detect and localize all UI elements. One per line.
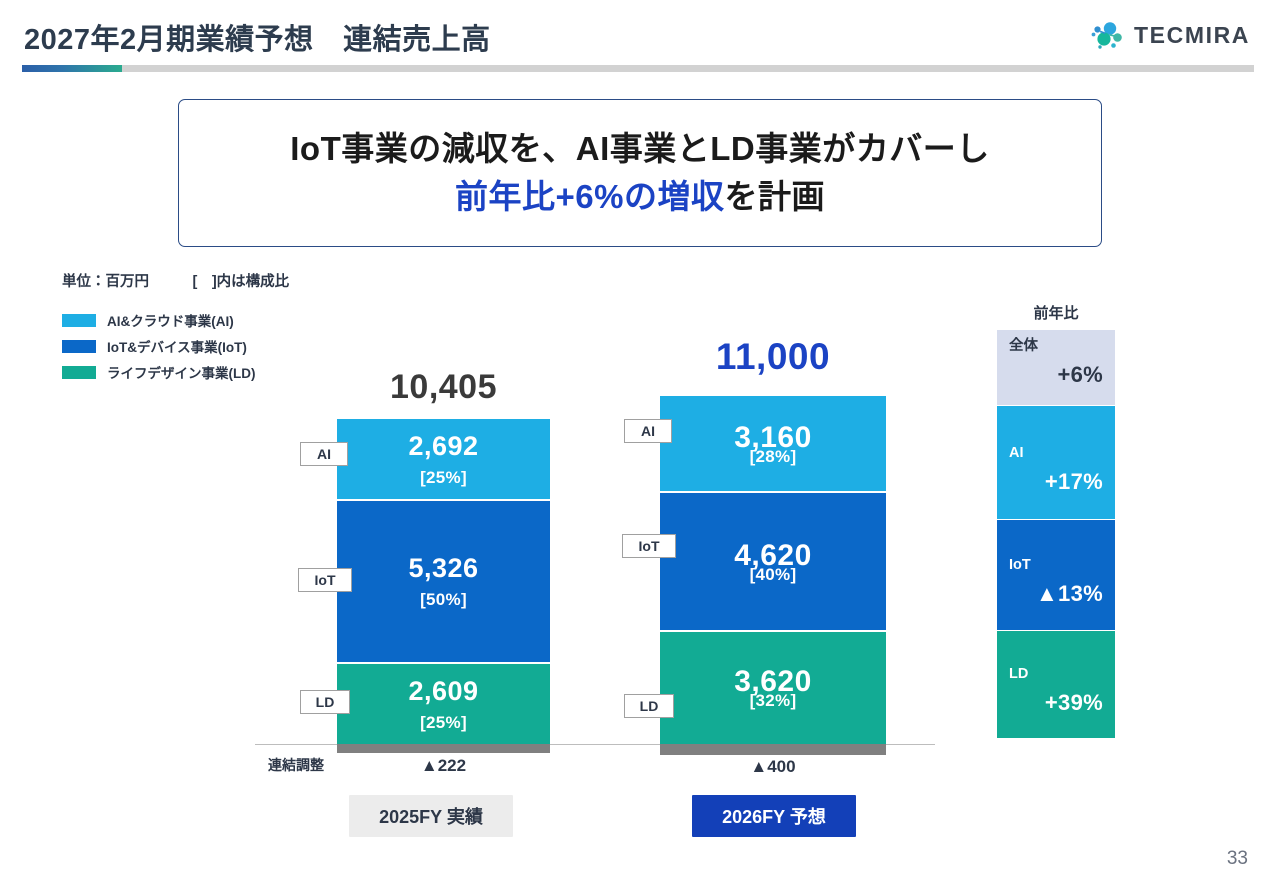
segment-tag-left-ld: LD [300,690,350,714]
adjustment-value-left: ▲222 [337,756,550,776]
bar-segment-left-iot: 5,326 [50%] [337,501,550,662]
yoy-name-total: 全体 [1009,339,1103,355]
bar-segment-left-ld: 2,609 [25%] [337,664,550,744]
yoy-value-ld: +39% [1009,692,1103,714]
key-message-highlight: 前年比+6%の増収 [455,178,724,215]
yoy-row-iot: IoT ▲13% [997,520,1115,630]
segment-tag-right-ld: LD [624,694,674,718]
bar-total-left: 10,405 [337,368,550,407]
yoy-value-total: +6% [1009,364,1103,386]
yoy-value-iot: ▲13% [1009,583,1103,605]
logo-text: TECMIRA [1134,22,1250,49]
segment-share-right-ld: [32%] [750,692,797,709]
bar-segment-right-iot: 4,620 [40%] [660,493,886,630]
bar-segment-right-ld: 3,620 [32%] [660,632,886,744]
segment-tag-right-iot: IoT [622,534,676,558]
key-message-line1: IoT事業の減収を、AI事業とLD事業がカバーし [290,128,989,170]
bar-segment-right-ai: 3,160 [28%] [660,396,886,491]
segment-share-left-ld: [25%] [420,714,467,731]
header-rule-accent [22,65,122,72]
bar-total-right: 11,000 [660,336,886,378]
segment-tag-left-ai: AI [300,442,348,466]
legend-color-chip-ld [62,366,96,379]
unit-note: 単位：百万円 [ ]内は構成比 [62,270,289,291]
legend-item-iot: IoT&デバイス事業(IoT) [62,335,256,357]
key-message-tail: を計画 [724,178,825,215]
segment-tag-left-iot: IoT [298,568,352,592]
segment-tag-right-ai: AI [624,419,672,443]
page-number: 33 [1227,848,1248,870]
legend-item-ai: AI&クラウド事業(AI) [62,309,256,331]
legend-item-ld: ライフデザイン事業(LD) [62,361,256,383]
segment-value-left-ai: 2,692 [408,433,478,460]
legend-color-chip-ai [62,314,96,327]
fy-label-2026: 2026FY 予想 [692,795,856,837]
segment-share-right-iot: [40%] [750,566,797,583]
legend-color-chip-iot [62,340,96,353]
yoy-name-ai: AI [1009,446,1103,462]
molecule-node-cluster-icon [1091,20,1125,50]
bar-segment-left-ai: 2,692 [25%] [337,419,550,499]
key-message-box: IoT事業の減収を、AI事業とLD事業がカバーし 前年比+6%の増収を計画 [178,99,1102,247]
yoy-row-ld: LD +39% [997,631,1115,738]
yoy-panel-title: 前年比 [997,302,1115,323]
yoy-row-ai: AI +17% [997,406,1115,519]
segment-share-left-ai: [25%] [420,469,467,486]
segment-value-left-iot: 5,326 [408,555,478,582]
header-rule [22,65,1254,72]
segment-share-left-iot: [50%] [420,591,467,608]
segment-share-right-ai: [28%] [750,448,797,465]
slide: 2027年2月期業績予想 連結売上高 TECMIRA IoT事業の減収を、AI事… [0,0,1280,886]
yoy-row-total: 全体 +6% [997,330,1115,405]
fy-label-2025: 2025FY 実績 [349,795,513,837]
page-title: 2027年2月期業績予想 連結売上高 [24,16,491,58]
legend-label-ld: ライフデザイン事業(LD) [107,362,256,382]
yoy-name-iot: IoT [1009,558,1103,574]
adjustment-bar-right [660,744,886,755]
legend-label-iot: IoT&デバイス事業(IoT) [107,336,247,356]
yoy-value-ai: +17% [1009,471,1103,493]
legend-label-ai: AI&クラウド事業(AI) [107,310,234,330]
adjustment-value-right: ▲400 [660,757,886,777]
brand-logo: TECMIRA [1091,20,1250,50]
legend: AI&クラウド事業(AI) IoT&デバイス事業(IoT) ライフデザイン事業(… [62,309,256,387]
adjustment-row-label: 連結調整 [268,755,324,775]
yoy-name-ld: LD [1009,667,1103,683]
adjustment-bar-left [337,744,550,753]
segment-value-left-ld: 2,609 [408,678,478,705]
key-message-line2: 前年比+6%の増収を計画 [455,176,825,218]
